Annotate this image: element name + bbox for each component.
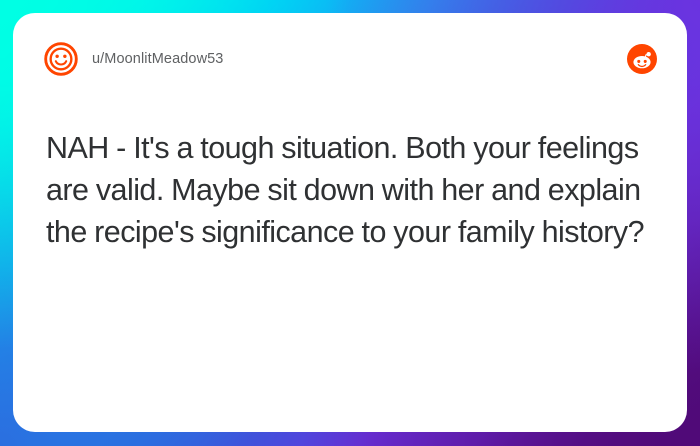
comment-text: NAH - It's a tough situation. Both your … — [46, 127, 651, 253]
screenshot-canvas: u/MoonlitMeadow53 NAH - It's a tough sit… — [0, 0, 700, 446]
reddit-comment-card: u/MoonlitMeadow53 NAH - It's a tough sit… — [13, 13, 687, 432]
smiley-face-avatar-icon[interactable] — [43, 41, 79, 77]
author-username: u/MoonlitMeadow53 — [92, 51, 223, 67]
card-body: NAH - It's a tough situation. Both your … — [43, 127, 657, 253]
card-header: u/MoonlitMeadow53 — [43, 39, 657, 79]
author-block[interactable]: u/MoonlitMeadow53 — [43, 41, 223, 77]
reddit-snoo-logo-icon[interactable] — [627, 44, 657, 74]
